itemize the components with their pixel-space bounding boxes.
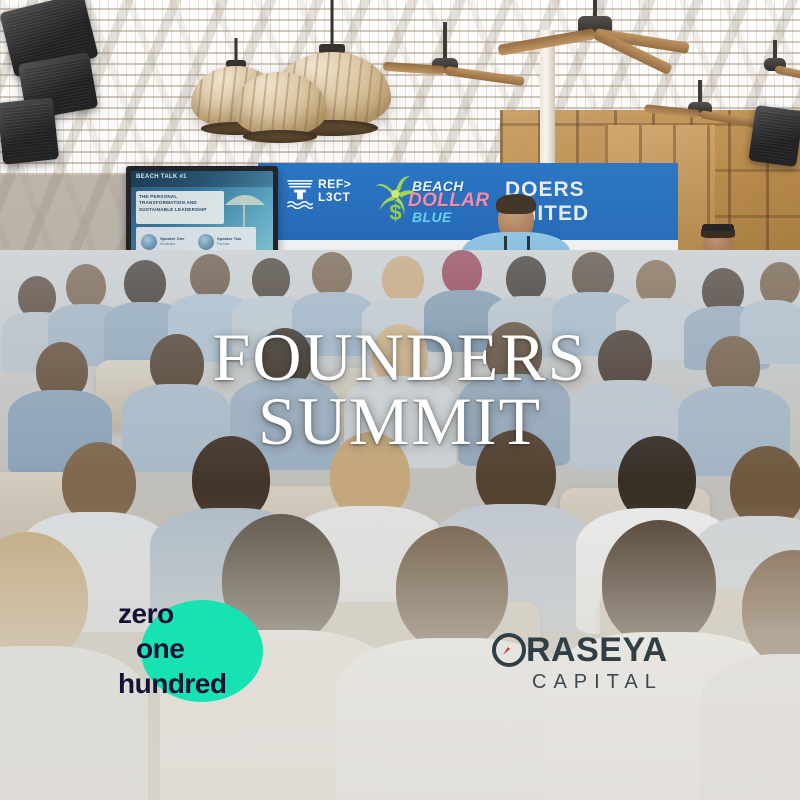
title-line-summit: SUMMIT [0,388,800,454]
compass-needle-icon [499,638,519,658]
oraseya-subtitle: CAPITAL [532,671,663,694]
zoh-line-one: one [118,631,298,666]
title-line-founders: FOUNDERS [0,326,800,388]
zoh-line-hundred: hundred [118,666,298,701]
oraseya-wordmark: RASEYA [526,630,668,670]
zero-one-hundred-logo[interactable]: zero one hundred [118,596,298,708]
oraseya-capital-logo[interactable]: RASEYA CAPITAL [492,630,708,702]
zero-one-hundred-text: zero one hundred [118,596,298,701]
page-title: FOUNDERS SUMMIT [0,326,800,454]
founders-summit-poster: REF> L3CT $ BEACH DOLLAR BLUE [0,0,800,800]
zoh-line-zero: zero [118,596,298,631]
